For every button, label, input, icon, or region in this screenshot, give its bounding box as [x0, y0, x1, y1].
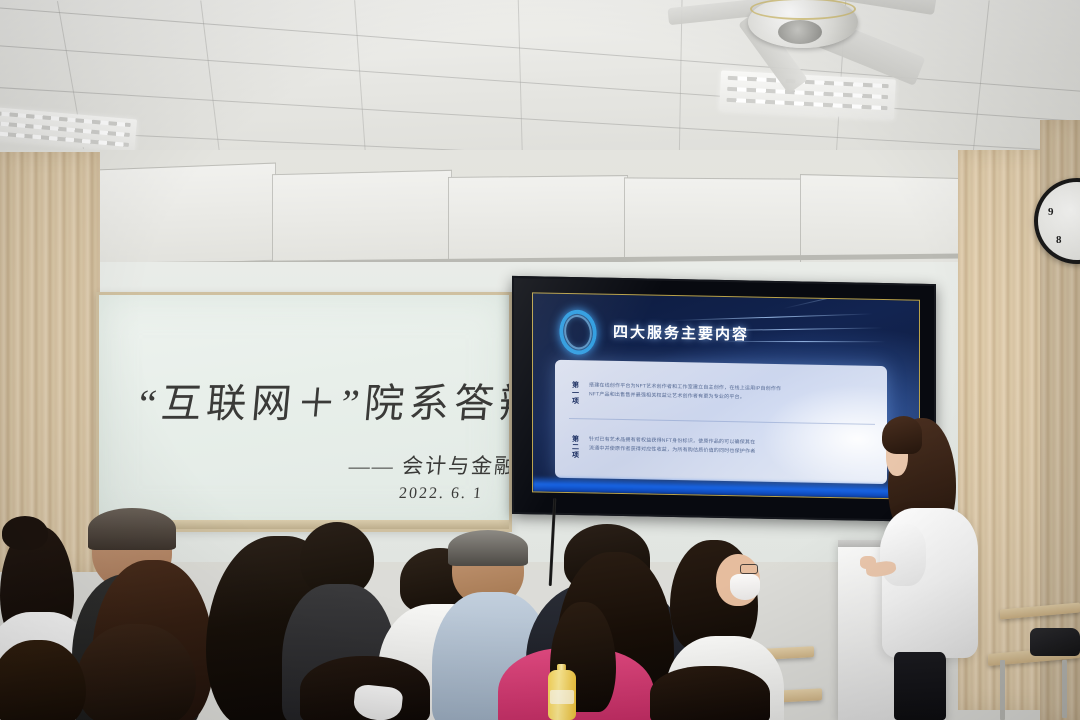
slide-row-label: 第二项	[571, 436, 580, 460]
clock-numeral: 9	[1048, 206, 1054, 218]
classroom-scene: 9 8 “互联网＋”院系答辩 —— 会计与金融学院 2022. 6. 1 四大服…	[0, 0, 1080, 720]
wall-panel	[96, 163, 276, 268]
ceiling-fan	[690, 0, 920, 72]
whiteboard-title: “互联网＋”院系答辩	[136, 371, 512, 429]
ceiling-light-panel-right	[719, 70, 896, 119]
slide-title: 四大服务主要内容	[613, 321, 749, 345]
whiteboard-date: 2022. 6. 1	[398, 485, 484, 503]
glowing-ring-icon	[559, 310, 597, 355]
audience-member	[76, 624, 196, 720]
slide-content-card: 第一项 搭建在线创作平台为NFT艺术创作者和工作室建立自主创作，在线上运用IP自…	[555, 360, 887, 484]
presenter-pants	[894, 652, 946, 720]
face-mask	[352, 684, 403, 720]
ceiling-light-panel-left	[0, 107, 137, 152]
audience-member	[0, 640, 86, 720]
glasses	[740, 564, 758, 574]
black-bag-on-desk	[1030, 628, 1080, 656]
whiteboard: “互联网＋”院系答辩 —— 会计与金融学院 2022. 6. 1	[96, 292, 512, 532]
presenter-sleeve	[880, 524, 926, 586]
face-mask	[730, 574, 760, 600]
whiteboard-signature: —— 会计与金融学院	[348, 450, 512, 480]
audience-member	[650, 666, 770, 720]
slide-row-label: 第一项	[571, 382, 580, 406]
yellow-water-bottle	[546, 664, 578, 720]
wall-panel	[272, 170, 452, 270]
presenter	[860, 412, 1010, 720]
audience-member	[300, 656, 430, 720]
presenter-hand	[860, 556, 876, 569]
clock-numeral: 8	[1056, 234, 1062, 246]
